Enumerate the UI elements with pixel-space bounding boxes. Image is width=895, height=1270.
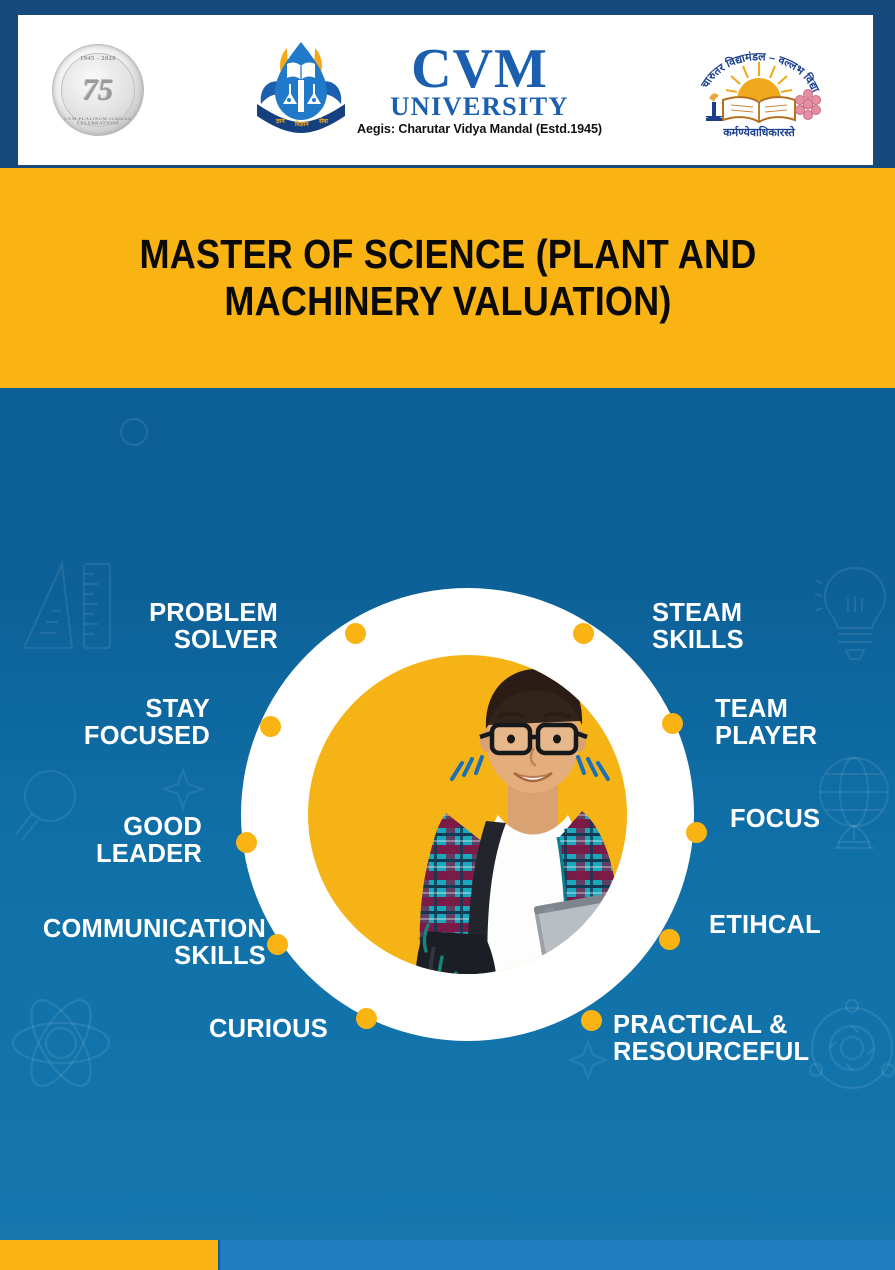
svg-text:विज्ञान: विज्ञान — [294, 120, 309, 128]
student-with-backpack-and-laptop-photo — [368, 663, 627, 974]
trust-motto-text: कर्मण्येवाधिकारस्ते — [722, 125, 795, 139]
footer-bar — [0, 1240, 895, 1270]
skill-label-curious: CURIOUS — [0, 1016, 328, 1043]
jubilee-seal-icon: 1945 - 2020 75 CVM PLATINUM JUBILEE CELE… — [52, 44, 144, 136]
cvm-aegis-line: Aegis: Charutar Vidya Mandal (Estd.1945) — [357, 122, 602, 136]
seal-years-text: 1945 - 2020 — [52, 55, 144, 62]
skills-wheel-section: PROBLEM SOLVER STAY FOCUSED GOOD LEADER … — [0, 388, 895, 1240]
svg-text:सेवा: सेवा — [318, 117, 328, 125]
cvm-name-sub: UNIVERSITY — [390, 93, 568, 120]
skill-label-focus: FOCUS — [730, 806, 895, 833]
globe-stand-icon — [808, 750, 895, 860]
header-frame: 1945 - 2020 75 CVM PLATINUM JUBILEE CELE… — [0, 0, 895, 168]
program-title-band: MASTER OF SCIENCE (PLANT AND MACHINERY V… — [0, 168, 895, 388]
wheel-dot-8 — [686, 822, 707, 843]
seal-arc-text: CVM PLATINUM JUBILEE CELEBRATIONS — [52, 118, 144, 127]
wheel-dot-5 — [356, 1008, 377, 1029]
logo-band: 1945 - 2020 75 CVM PLATINUM JUBILEE CELE… — [18, 15, 873, 165]
svg-text:ज्ञान: ज्ञान — [275, 119, 285, 125]
wheel-dot-6 — [573, 623, 594, 644]
circle-dot-icon — [114, 412, 154, 452]
wheel-dot-3 — [236, 832, 257, 853]
wheel-dot-4 — [267, 934, 288, 955]
skill-label-problem-solver: PROBLEM SOLVER — [0, 600, 278, 654]
cvm-wordmark: CVM UNIVERSITY Aegis: Charutar Vidya Man… — [357, 44, 602, 136]
diamond-icon — [566, 1038, 610, 1082]
cvm-name-main: CVM — [411, 44, 548, 96]
footer-accent-segment — [0, 1240, 218, 1270]
charutar-vidya-mandal-icon: चारुतर विद्यामंडल – वल्लभ विद्यानगर — [693, 38, 825, 142]
wheel-dot-1 — [345, 623, 366, 644]
skill-label-team-player: TEAM PLAYER — [715, 696, 895, 750]
wheel-dot-2 — [260, 716, 281, 737]
skill-label-practical-resourceful: PRACTICAL & RESOURCEFUL — [613, 1012, 895, 1066]
seal-number-text: 75 — [52, 74, 144, 105]
sparkle-icon — [160, 766, 206, 812]
wheel-dot-9 — [659, 929, 680, 950]
wheel-dot-7 — [662, 713, 683, 734]
footer-divider — [218, 1240, 220, 1270]
skill-label-stay-focused: STAY FOCUSED — [0, 696, 210, 750]
wheel-yellow-disc — [308, 655, 627, 974]
program-poster: 1945 - 2020 75 CVM PLATINUM JUBILEE CELE… — [0, 0, 895, 1270]
atom-icon — [6, 988, 116, 1098]
cvm-emblem-icon: ज्ञान विज्ञान सेवा — [253, 38, 349, 142]
cvm-university-logo: ज्ञान विज्ञान सेवा CVM UNIVERSITY Aegis:… — [253, 38, 602, 142]
skill-label-steam-skills: STEAM SKILLS — [652, 600, 892, 654]
page-title: MASTER OF SCIENCE (PLANT AND MACHINERY V… — [122, 231, 773, 325]
skills-wheel — [241, 588, 694, 1041]
skill-label-communication-skills: COMMUNICATION SKILLS — [0, 916, 266, 970]
wheel-dot-10 — [581, 1010, 602, 1031]
skill-label-etihcal: ETIHCAL — [709, 912, 895, 939]
skill-label-good-leader: GOOD LEADER — [0, 814, 202, 868]
